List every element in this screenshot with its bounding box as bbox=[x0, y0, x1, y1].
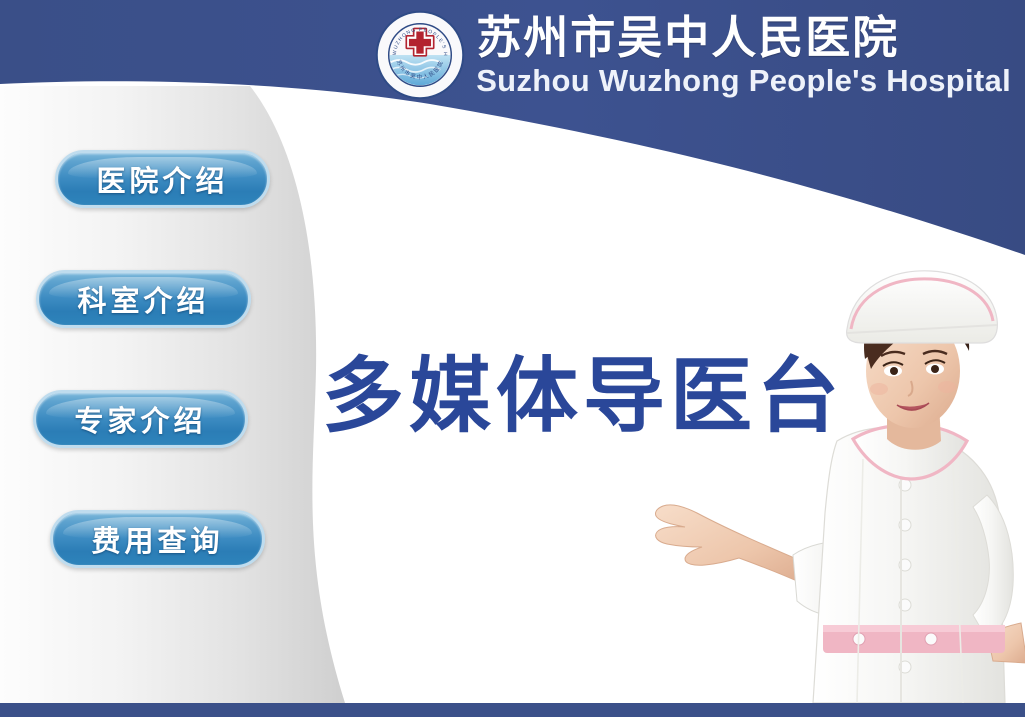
header: SUZHOU WUZHONG PEOPLE'S HOSPITAL 苏州市吴中人民… bbox=[0, 0, 1025, 110]
sidebar-item-expert-intro[interactable]: 专家介绍 bbox=[33, 390, 248, 448]
sidebar-item-label: 医院介绍 bbox=[96, 158, 228, 200]
sidebar-item-label: 专家介绍 bbox=[74, 398, 206, 440]
nurse-gesturing-hand bbox=[656, 505, 806, 585]
sidebar-item-hospital-intro[interactable]: 医院介绍 bbox=[55, 150, 270, 208]
page-title: 多媒体导医台 bbox=[322, 356, 844, 438]
sidebar-item-label: 科室介绍 bbox=[77, 278, 209, 320]
nurse-belt bbox=[823, 625, 1005, 653]
sidebar-item-fee-inquiry[interactable]: 费用查询 bbox=[50, 510, 265, 568]
hospital-name-en: Suzhou Wuzhong People's Hospital bbox=[476, 65, 1011, 96]
hospital-name-block: 苏州市吴中人民医院 Suzhou Wuzhong People's Hospit… bbox=[476, 15, 1011, 96]
nurse-figure bbox=[601, 263, 1025, 703]
sidebar-item-label: 费用查询 bbox=[91, 518, 223, 560]
kiosk-screen: SUZHOU WUZHONG PEOPLE'S HOSPITAL 苏州市吴中人民… bbox=[0, 0, 1025, 717]
sidebar-item-department-intro[interactable]: 科室介绍 bbox=[36, 270, 251, 328]
footer-bar bbox=[0, 703, 1025, 717]
hospital-seal-icon: SUZHOU WUZHONG PEOPLE'S HOSPITAL 苏州市吴中人民… bbox=[374, 9, 466, 101]
nurse-cap bbox=[847, 271, 998, 343]
hospital-name-cn: 苏州市吴中人民医院 bbox=[476, 15, 899, 60]
